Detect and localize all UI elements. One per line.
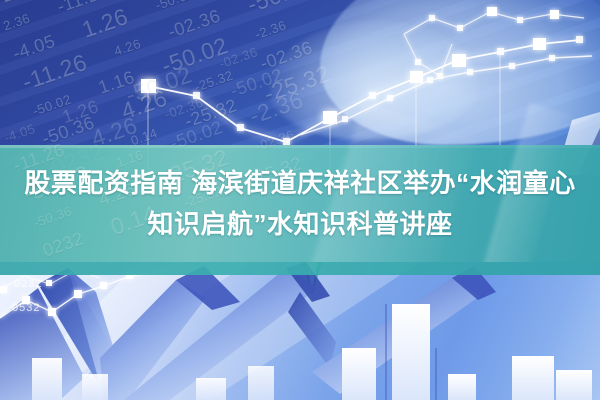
bottom-left-label-1: 0232 (14, 278, 42, 290)
banner-title: 股票配资指南 海滨街道庆祥社区举办“水润童心 知识启航”水知识科普讲座 (0, 163, 600, 245)
teal-band-bottom-edge (0, 262, 600, 275)
bottom-ribbon-scene: 0232 0532 (0, 262, 600, 400)
banner-image: -02.36-02.36-50.02-02.36-02.35-2.36-50.3… (0, 0, 600, 400)
bottom-left-label-2: 0532 (12, 302, 40, 314)
ticker-number: -4.05 (2, 120, 37, 145)
title-line-2: 知识启航”水知识科普讲座 (0, 204, 600, 245)
title-line-1: 股票配资指南 海滨街道庆祥社区举办“水润童心 (0, 163, 600, 204)
